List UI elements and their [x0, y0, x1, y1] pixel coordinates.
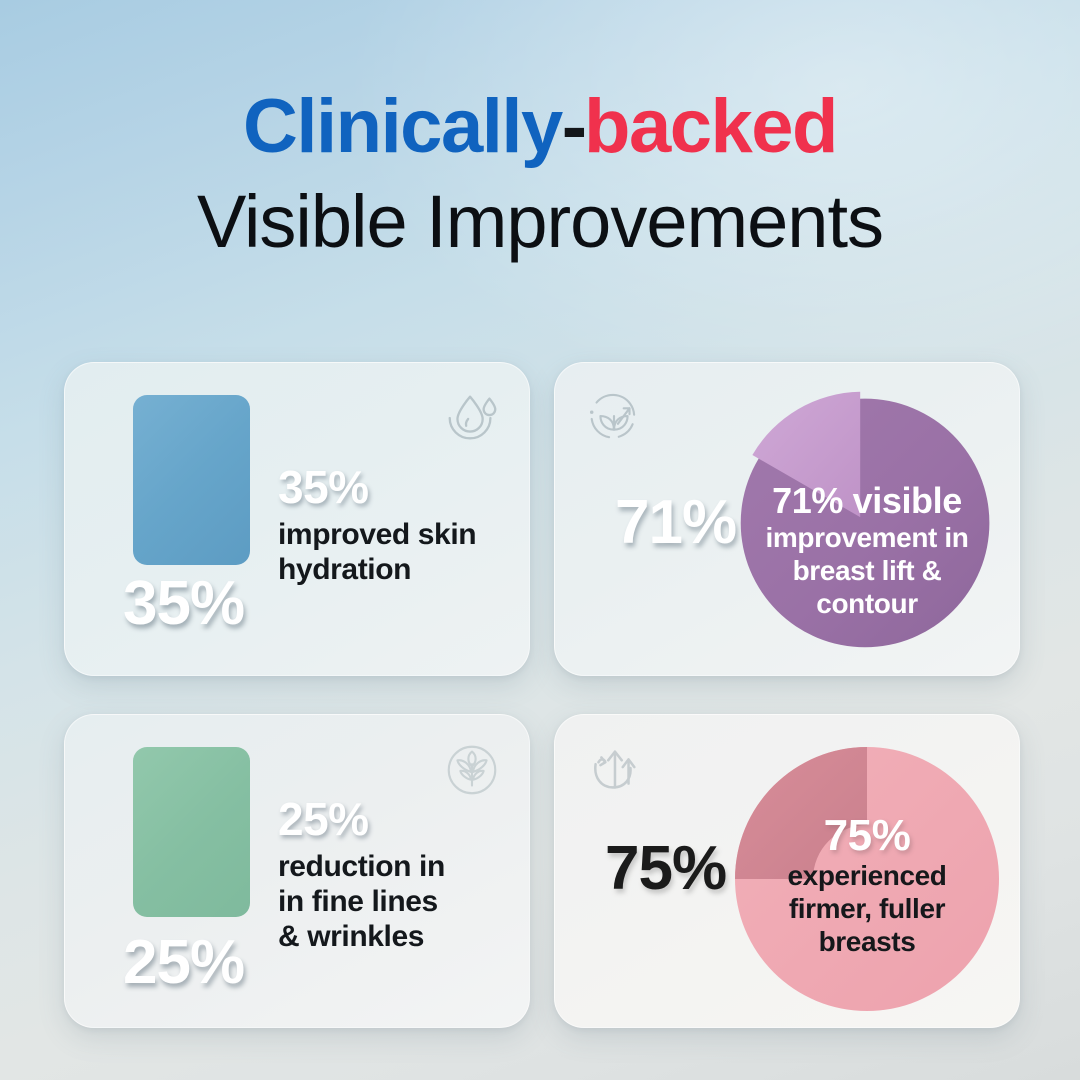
card-copy-value-hydration: 35%: [278, 463, 508, 511]
stat-card-firmer-fuller[interactable]: 75%: [554, 714, 1020, 1028]
card-copy-line-2: hydration: [278, 552, 508, 587]
side-value-label-breast-lift: 71%: [615, 487, 736, 558]
infographic-canvas: Clinically-backed Visible Improvements 3…: [0, 0, 1080, 1080]
stat-card-breast-lift-contour[interactable]: 71%: [554, 362, 1020, 676]
bar-fine-lines: [133, 747, 250, 917]
stat-card-hydration[interactable]: 35% 35% improved skin hydration: [64, 362, 530, 676]
bar-value-label-hydration: 35%: [123, 568, 244, 639]
page-heading: Clinically-backed Visible Improvements: [0, 82, 1080, 268]
lift-arrows-icon: [583, 739, 645, 801]
bar-value-label-fine-lines: 25%: [123, 927, 244, 998]
pie-chart-firmer-fuller: 75% experienced firmer, fuller breasts: [727, 739, 1007, 1019]
side-value-label-firmer-fuller: 75%: [605, 833, 726, 904]
stat-card-fine-lines[interactable]: 25% 25% reduction in in fine lines & wri…: [64, 714, 530, 1028]
headline-word-backed: backed: [584, 84, 837, 169]
card-copy-line-2: in fine lines: [278, 884, 508, 919]
card-copy-text-fine-lines: reduction in in fine lines & wrinkles: [278, 849, 508, 954]
leaf-growth-icon: [583, 387, 645, 449]
card-copy-text-hydration: improved skin hydration: [278, 517, 508, 587]
card-copy-fine-lines: 25% reduction in in fine lines & wrinkle…: [278, 795, 508, 954]
bar-hydration: [133, 395, 250, 565]
stats-card-grid: 35% 35% improved skin hydration: [64, 362, 1020, 1030]
headline-dash: -: [562, 84, 584, 169]
leaf-circle-icon: [441, 739, 503, 801]
water-drop-icon: [441, 387, 503, 449]
card-copy-value-fine-lines: 25%: [278, 795, 508, 843]
headline-visible-improvements: Visible Improvements: [0, 176, 1080, 268]
pie-chart-breast-lift: 71% visible improvement in breast lift &…: [731, 385, 1003, 657]
headline-clinically-backed: Clinically-backed: [0, 82, 1080, 172]
headline-word-clinically: Clinically: [243, 84, 562, 169]
card-copy-line-3: & wrinkles: [278, 919, 508, 954]
card-copy-hydration: 35% improved skin hydration: [278, 463, 508, 587]
card-copy-line-1: improved skin: [278, 517, 508, 552]
card-copy-line-1: reduction in: [278, 849, 508, 884]
